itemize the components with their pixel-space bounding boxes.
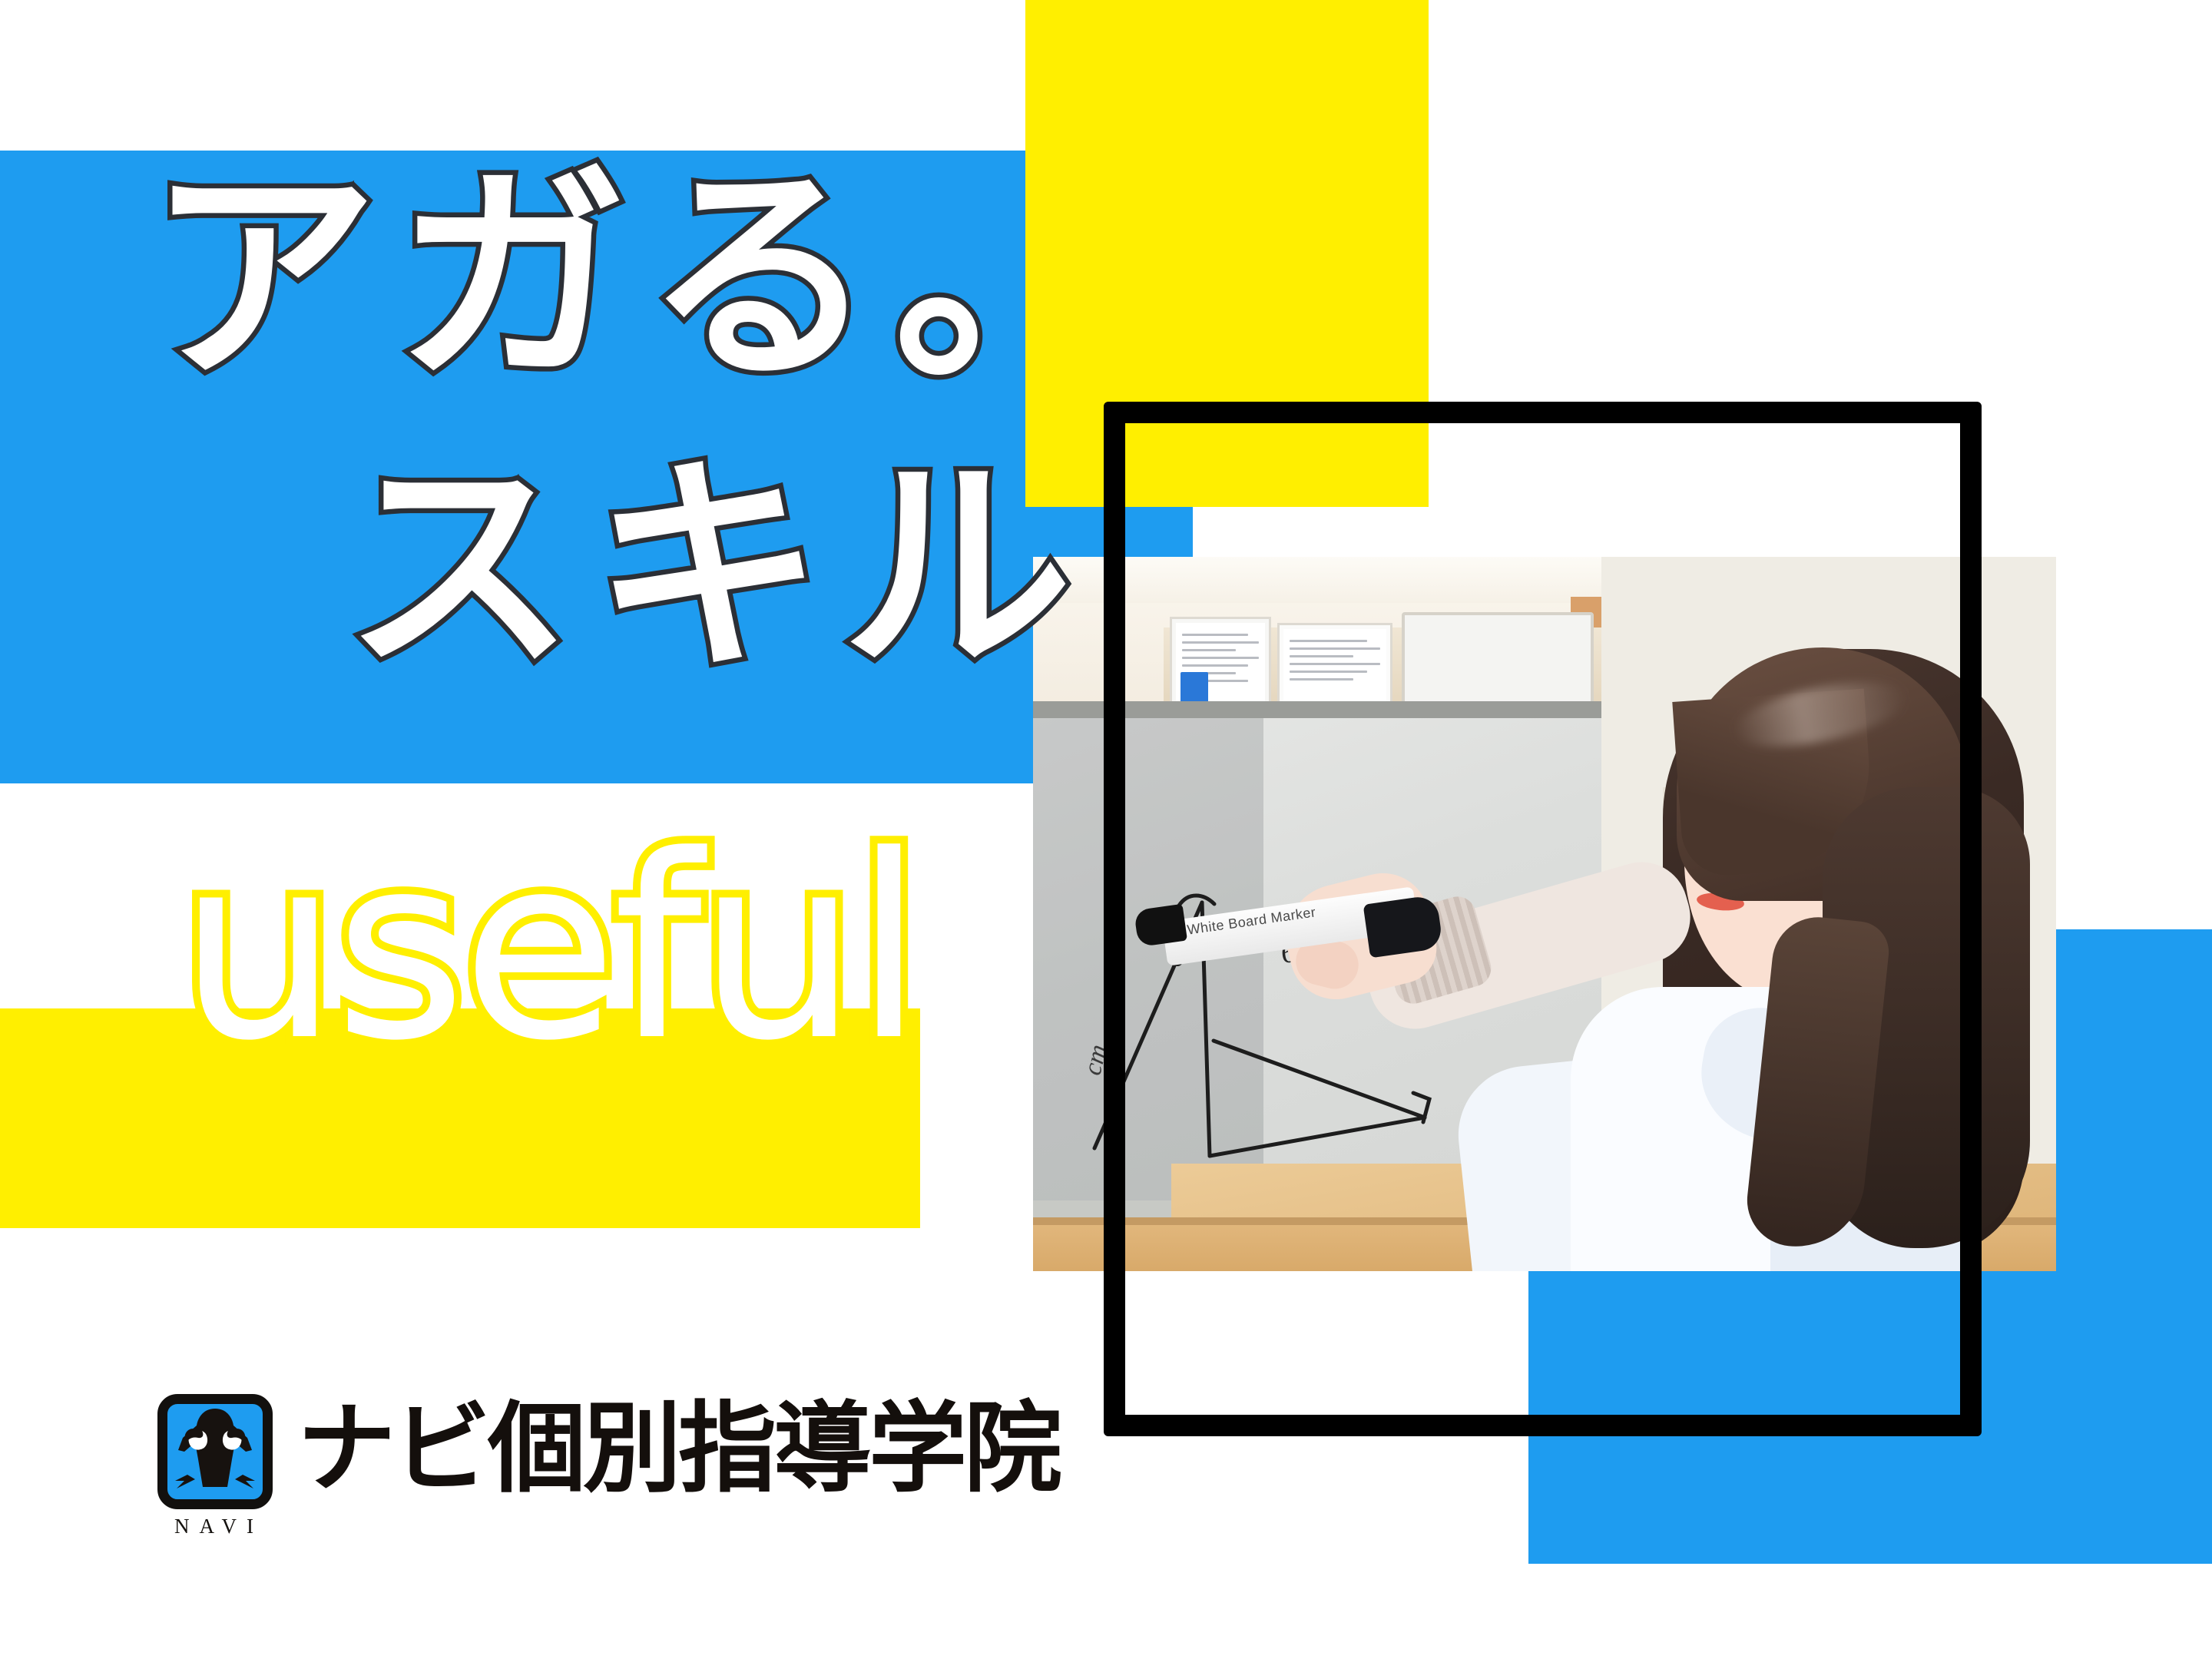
headline-line-1: アガる。: [147, 163, 1143, 393]
headline-line-2: スキル: [344, 453, 1091, 684]
navi-mascot-icon: [157, 1394, 273, 1509]
classroom-photo: B 6cm cm: [1033, 557, 2056, 1271]
poster-canvas: B 6cm cm: [0, 0, 2212, 1659]
notice-text-lines-2: [1290, 640, 1380, 686]
brand-logo: NAVI ナビ個別指導学院: [157, 1394, 1059, 1538]
photo-student: White Board Marker: [1617, 557, 2056, 1271]
logo-mark: NAVI: [157, 1394, 273, 1538]
headline-accent-useful: useful: [178, 822, 919, 1075]
logo-school-name: ナビ個別指導学院: [297, 1400, 1059, 1498]
logo-navi-label: NAVI: [157, 1515, 273, 1538]
whiteboard-marker-tip: [1134, 904, 1187, 947]
